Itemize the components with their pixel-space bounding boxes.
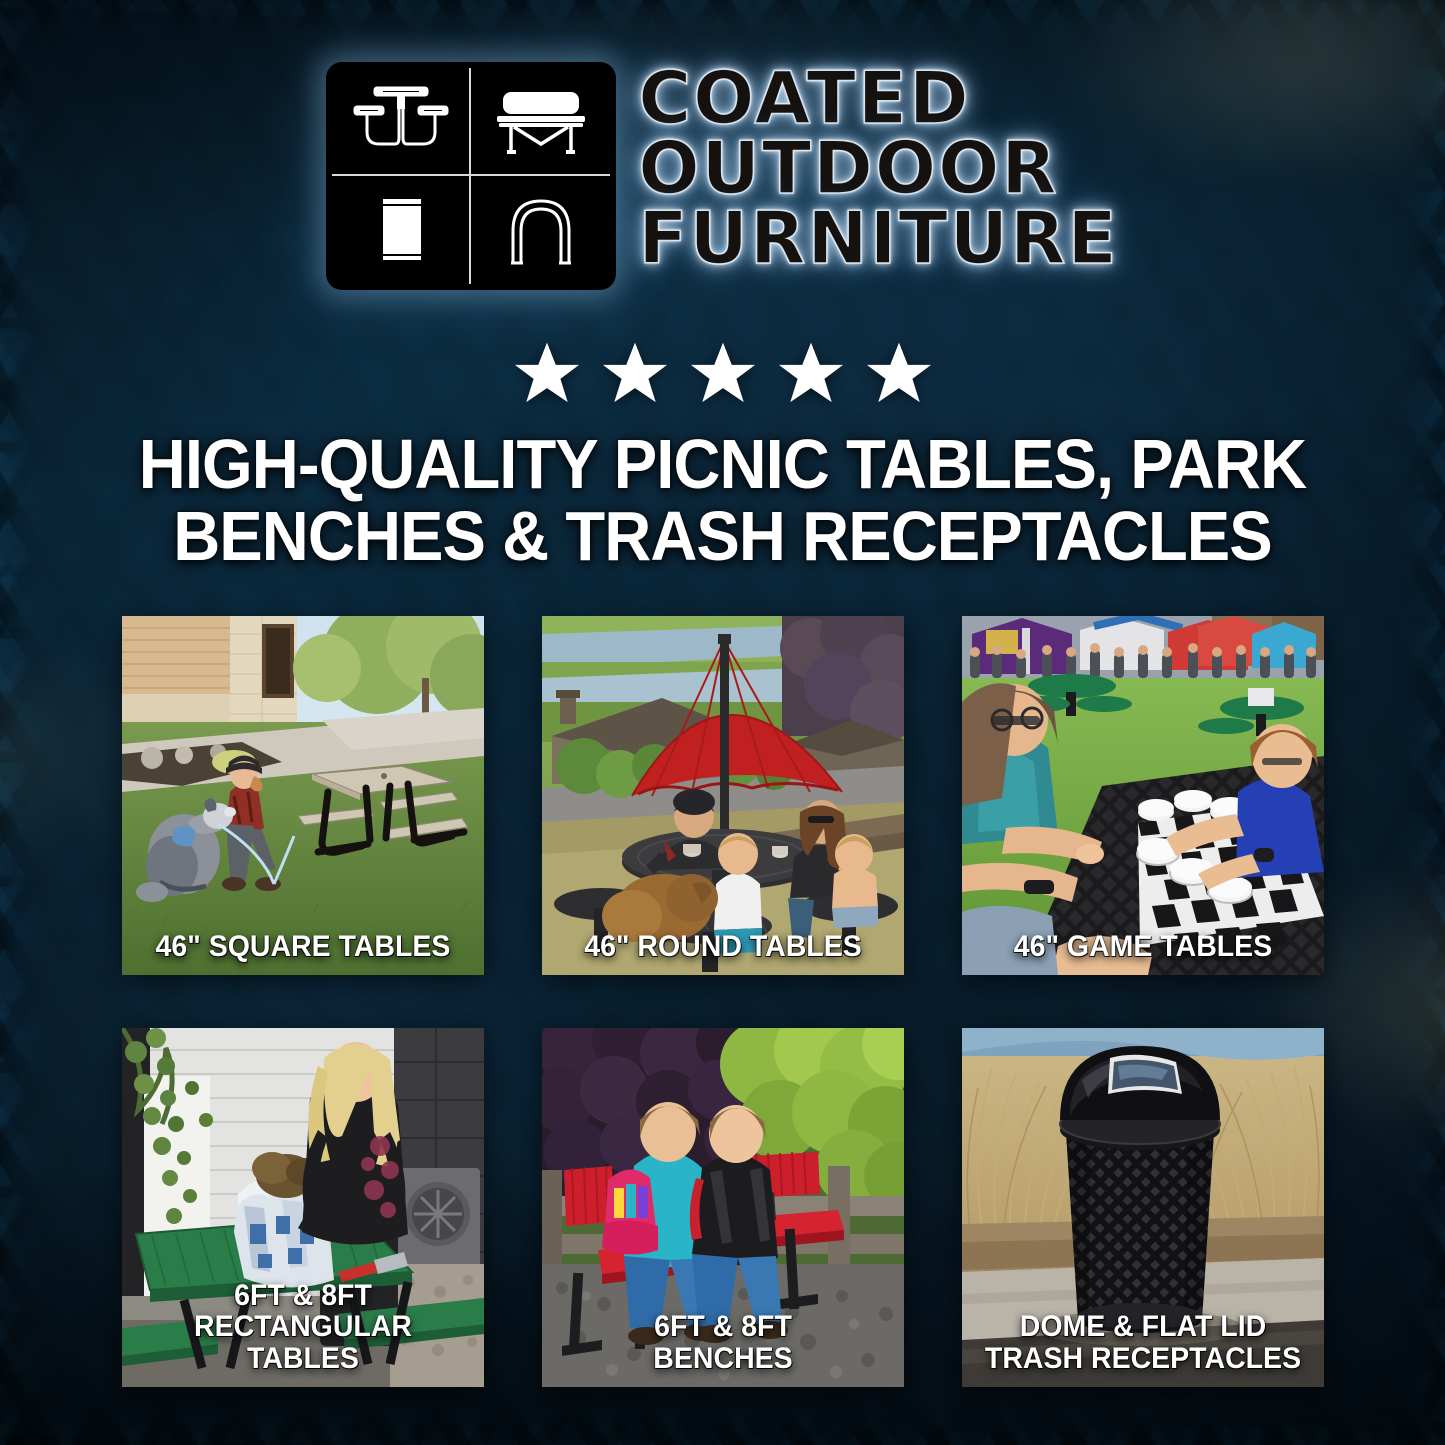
brand-word-furniture: FURNITURE xyxy=(638,204,1118,274)
square-picnic-table-icon xyxy=(332,68,471,176)
caption-line-2: TRASH RECEPTACLES xyxy=(977,1343,1310,1375)
caption-line-1: 46" ROUND TABLES xyxy=(557,931,890,963)
caption-line-1: 6FT & 8FT xyxy=(137,1280,470,1312)
dome-lid-icon xyxy=(471,176,610,284)
caption-line-1: DOME & FLAT LID xyxy=(977,1311,1310,1343)
brand-word-coated: COATED xyxy=(638,64,1118,134)
product-tile-benches[interactable]: 6FT & 8FT BENCHES xyxy=(542,1028,904,1387)
star-icon xyxy=(598,338,672,408)
caption-line-1: 6FT & 8FT xyxy=(557,1311,890,1343)
trash-receptacle-icon xyxy=(332,176,471,284)
headline-line-2: BENCHES & TRASH RECEPTACLES xyxy=(106,500,1338,572)
promo-poster: COATED OUTDOOR FURNITURE HIGH-QUALITY PI… xyxy=(0,0,1445,1445)
product-caption: 6FT & 8FT RECTANGULAR TABLES xyxy=(131,1280,475,1375)
product-caption: 46" GAME TABLES xyxy=(971,931,1315,963)
product-tile-square-tables[interactable]: 46" SQUARE TABLES xyxy=(122,616,484,975)
page-title: HIGH-QUALITY PICNIC TABLES, PARK BENCHES… xyxy=(51,428,1395,572)
star-icon xyxy=(686,338,760,408)
product-caption: 6FT & 8FT BENCHES xyxy=(551,1311,895,1375)
product-tile-trash-receptacles[interactable]: DOME & FLAT LID TRASH RECEPTACLES xyxy=(962,1028,1324,1387)
product-grid: 46" SQUARE TABLES xyxy=(122,616,1323,1387)
product-caption: 46" ROUND TABLES xyxy=(551,931,895,963)
product-caption: DOME & FLAT LID TRASH RECEPTACLES xyxy=(971,1311,1315,1375)
product-photo-round-tables xyxy=(542,616,904,975)
product-caption: 46" SQUARE TABLES xyxy=(131,931,475,963)
headline-line-1: HIGH-QUALITY PICNIC TABLES, PARK xyxy=(139,425,1306,503)
brand-logo: COATED OUTDOOR FURNITURE xyxy=(0,62,1445,290)
product-tile-rectangular-tables[interactable]: 6FT & 8FT RECTANGULAR TABLES xyxy=(122,1028,484,1387)
star-rating xyxy=(0,338,1445,408)
brand-wordmark: COATED OUTDOOR FURNITURE xyxy=(638,62,1118,273)
star-icon xyxy=(510,338,584,408)
caption-line-1: 46" SQUARE TABLES xyxy=(137,931,470,963)
product-tile-game-tables[interactable]: 46" GAME TABLES xyxy=(962,616,1324,975)
brand-word-outdoor: OUTDOOR xyxy=(638,134,1118,204)
product-photo-square-tables xyxy=(122,616,484,975)
park-bench-icon xyxy=(471,68,610,176)
caption-line-2: BENCHES xyxy=(557,1343,890,1375)
caption-line-1: 46" GAME TABLES xyxy=(977,931,1310,963)
logo-icon-grid xyxy=(326,62,616,290)
star-icon xyxy=(862,338,936,408)
caption-line-2: RECTANGULAR TABLES xyxy=(137,1311,470,1375)
product-photo-game-tables xyxy=(962,616,1324,975)
product-tile-round-tables[interactable]: 46" ROUND TABLES xyxy=(542,616,904,975)
star-icon xyxy=(774,338,848,408)
